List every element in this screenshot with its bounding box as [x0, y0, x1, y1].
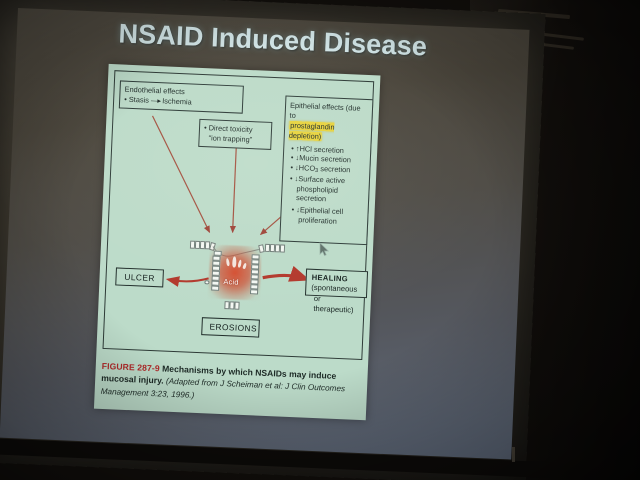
epithelial-effects-box: Epithelial effects (due to prostaglandin… [279, 96, 373, 246]
prostaglandin-depletion-highlight: prostaglandin depletion) [289, 121, 335, 141]
endothelial-effects-box: Endothelial effects • Stasis —▸ Ischemia [119, 80, 244, 113]
direct-toxicity-box: • Direct toxicity “ion trapping” [198, 119, 272, 150]
toxicity-line-2: “ion trapping” [203, 133, 266, 145]
bullet-secretion: secretion [289, 193, 364, 206]
epithelial-heading-line2: prostaglandin depletion) [289, 121, 368, 144]
bullet-proliferation: proliferation [288, 214, 363, 227]
figure-number: FIGURE 287-9 [102, 361, 160, 373]
projection-screen-pull-cord[interactable] [512, 447, 515, 462]
presentation-slide: NSAID Induced Disease [0, 8, 530, 459]
epithelial-heading-line1: Epithelial effects (due to [289, 101, 368, 124]
healing-line-2: or therapeutic) [310, 293, 361, 316]
healing-line-1: HEALING (spontaneous [311, 273, 362, 296]
acid-label: Acid [223, 277, 239, 287]
erosions-box: EROSIONS [201, 317, 260, 337]
healing-box: HEALING (spontaneous or therapeutic) [305, 269, 368, 299]
stasis-to-ischemia-arrow-icon: —▸ [151, 95, 160, 104]
ulcer-box: ULCER [115, 267, 164, 287]
epithelial-bullet-list: • ↑HCl secretion • ↓Mucin secretion • ↓H… [285, 143, 366, 227]
photo-of-projected-slide: NSAID Induced Disease [0, 0, 640, 480]
